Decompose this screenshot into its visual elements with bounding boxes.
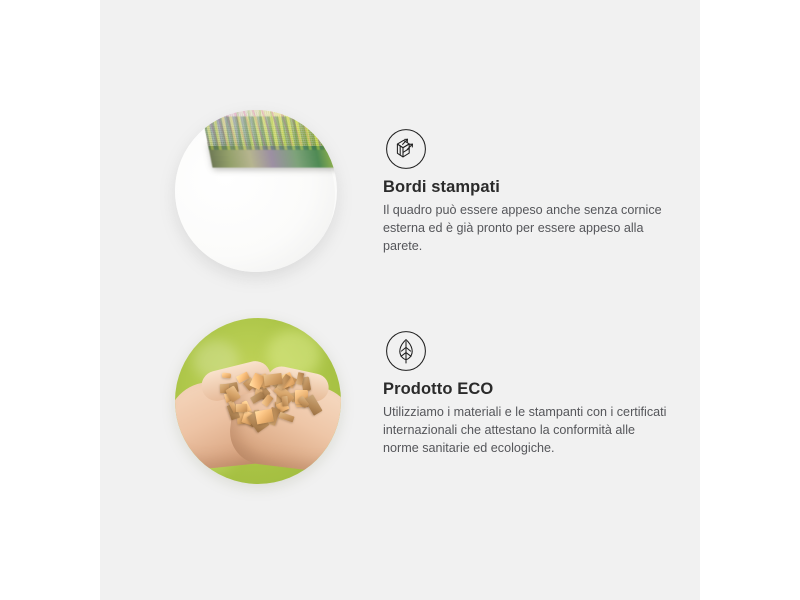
wood-chip [236,404,247,412]
content-panel: Bordi stampati Il quadro può essere appe… [100,0,700,600]
feature-text-printed-edges: Bordi stampati Il quadro può essere appe… [383,178,673,255]
canvas-edge-photo [175,110,337,272]
wood-chip [222,372,232,378]
canvas-bottom-paint [203,116,337,149]
feature-block-printed-edges: Bordi stampati Il quadro può essere appe… [100,100,700,300]
feature-title: Prodotto ECO [383,380,673,399]
feature-title: Bordi stampati [383,178,673,197]
feature-description: Il quadro può essere appeso anche senza … [383,201,673,255]
wood-chips [215,372,317,430]
eco-hands-photo [175,318,341,484]
feature-block-eco-product: Prodotto ECO Utilizziamo i materiali e l… [100,305,700,505]
wood-chip [281,396,288,406]
printed-edges-icon [385,128,427,170]
wood-chip [278,412,294,423]
feature-description: Utilizziamo i materiali e le stampanti c… [383,403,673,457]
product-feature-page: Bordi stampati Il quadro può essere appe… [0,0,800,600]
feature-text-eco-product: Prodotto ECO Utilizziamo i materiali e l… [383,380,673,457]
leaf-icon [385,330,427,372]
